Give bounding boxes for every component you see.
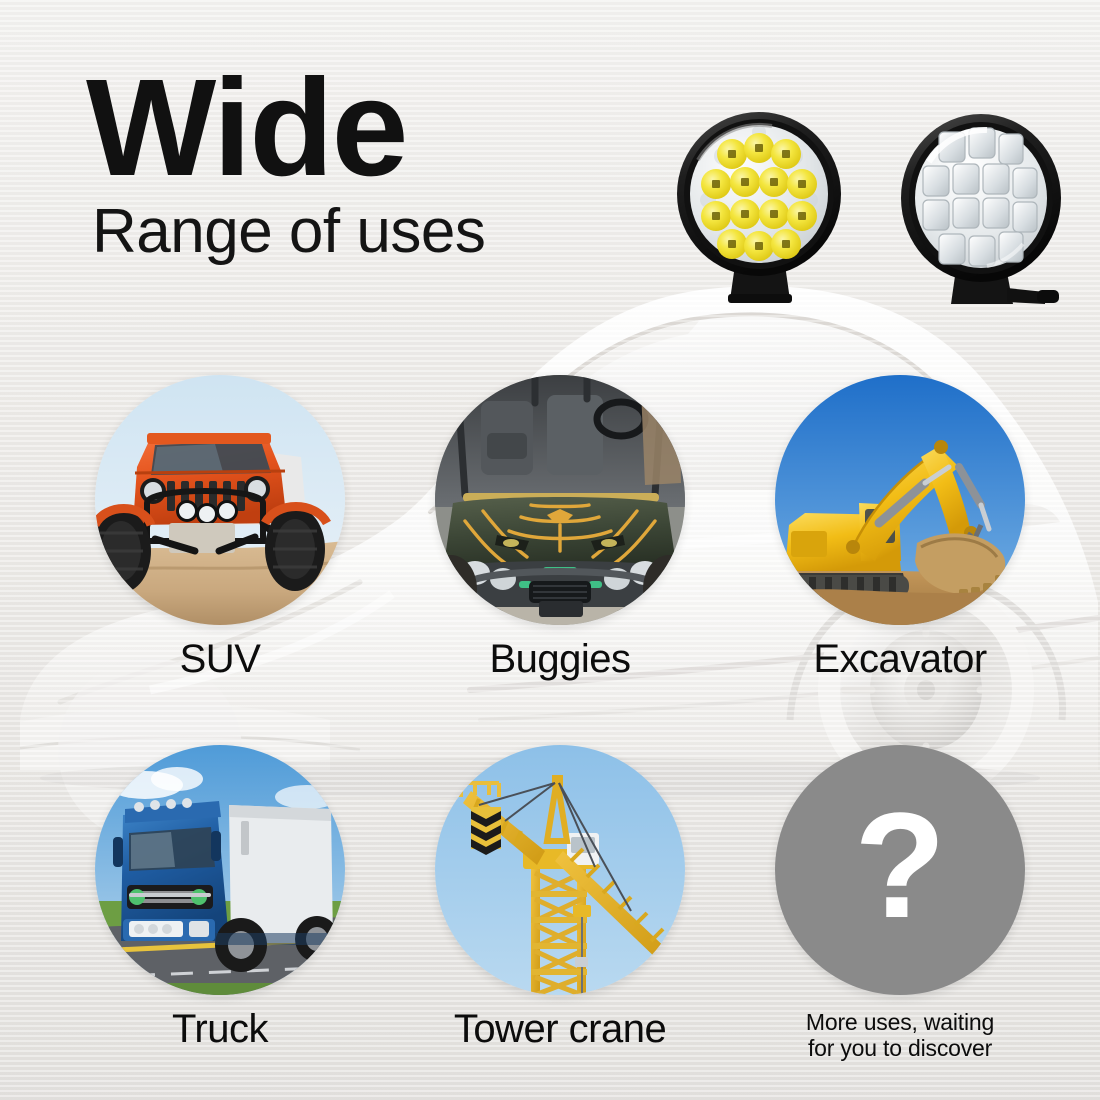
use-case-more[interactable]: ? More uses, waiting for you to discover bbox=[770, 745, 1030, 1061]
use-case-label: SUV bbox=[90, 637, 350, 682]
use-case-label: Buggies bbox=[430, 637, 690, 682]
question-mark-icon: ? bbox=[775, 745, 1025, 995]
poster-canvas: Wide Range of uses bbox=[0, 0, 1100, 1100]
page-title: Wide bbox=[86, 62, 485, 194]
page-subtitle: Range of uses bbox=[92, 200, 485, 263]
use-case-truck[interactable]: Truck bbox=[90, 745, 350, 1052]
use-case-label: Truck bbox=[90, 1007, 350, 1052]
more-uses-line2: for you to discover bbox=[770, 1035, 1030, 1061]
led-work-light-off bbox=[895, 112, 1077, 308]
question-mark-glyph: ? bbox=[775, 745, 1025, 995]
use-case-label: Excavator bbox=[770, 637, 1030, 682]
use-case-label: Tower crane bbox=[430, 1007, 690, 1052]
buggy-photo bbox=[435, 375, 685, 625]
headline-block: Wide Range of uses bbox=[86, 62, 485, 264]
use-case-buggies[interactable]: Buggies bbox=[430, 375, 690, 682]
tower-crane-photo bbox=[435, 745, 685, 995]
use-case-label: More uses, waiting for you to discover bbox=[770, 1009, 1030, 1061]
truck-photo bbox=[95, 745, 345, 995]
suv-photo bbox=[95, 375, 345, 625]
excavator-photo bbox=[775, 375, 1025, 625]
more-uses-line1: More uses, waiting bbox=[770, 1009, 1030, 1035]
use-case-excavator[interactable]: Excavator bbox=[770, 375, 1030, 682]
led-work-light-on bbox=[668, 108, 850, 304]
use-case-tower-crane[interactable]: Tower crane bbox=[430, 745, 690, 1052]
use-case-suv[interactable]: SUV bbox=[90, 375, 350, 682]
